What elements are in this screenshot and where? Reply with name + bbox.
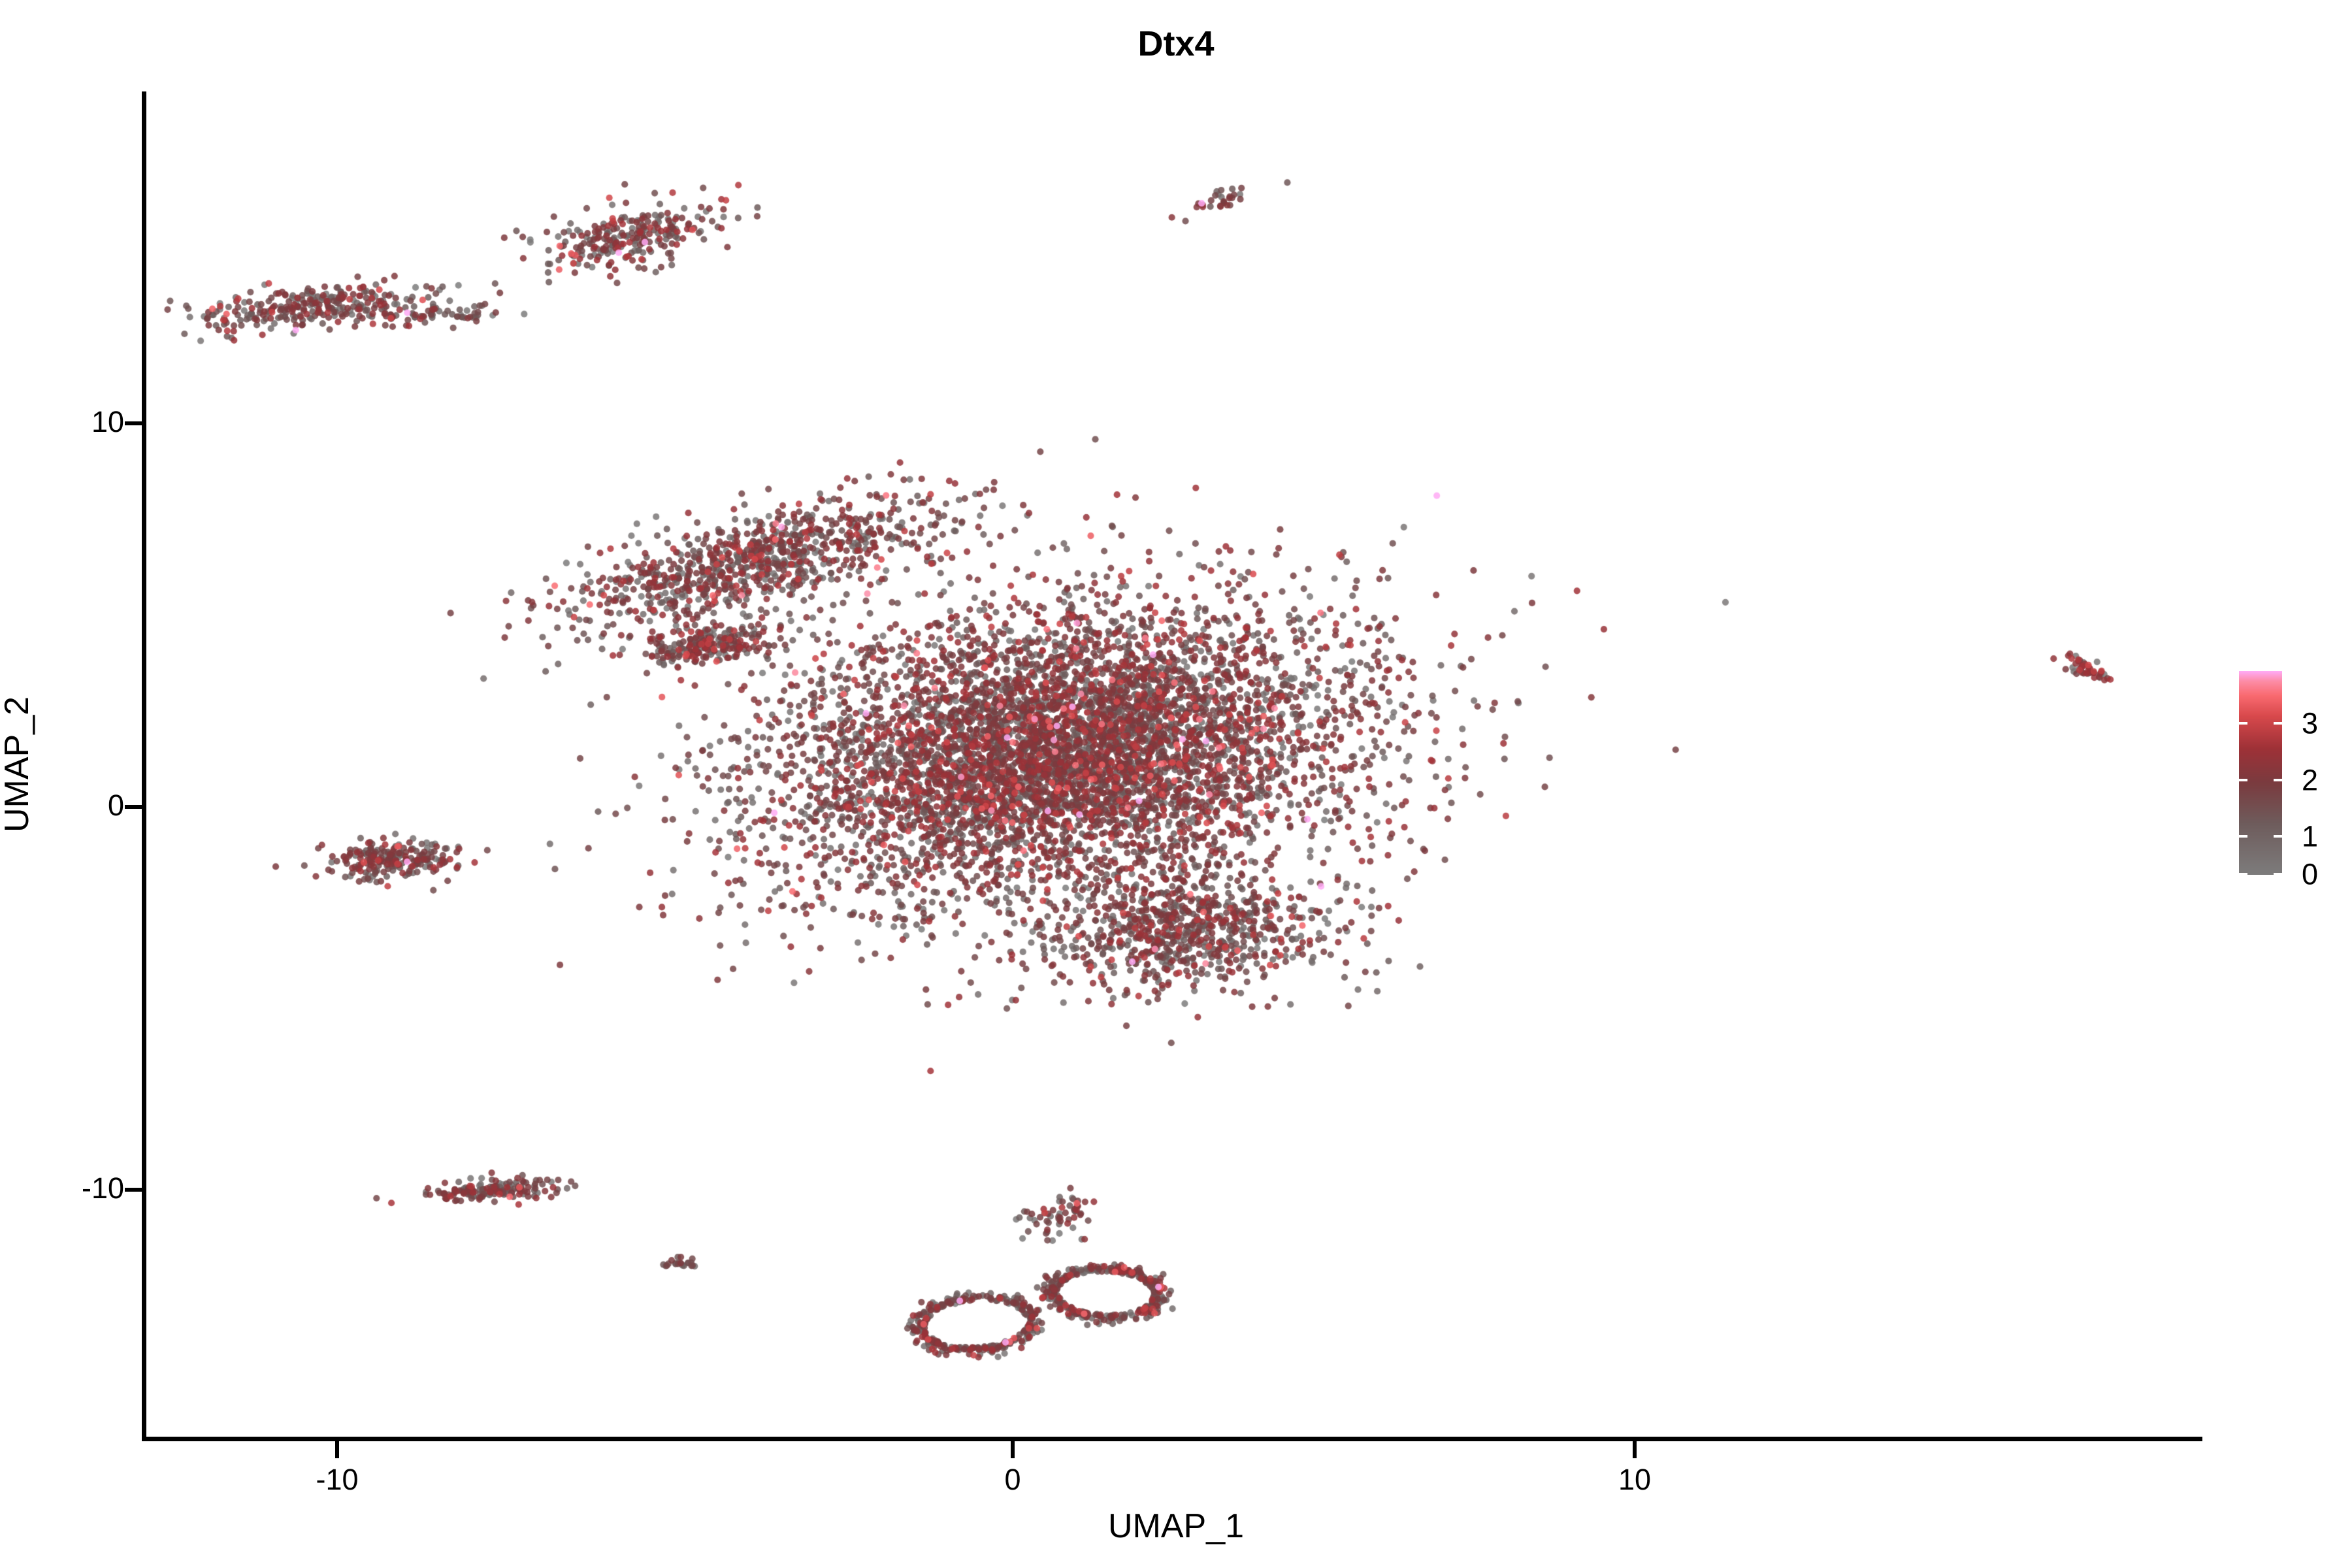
colorbar-tick-1-right [2274,835,2282,838]
y-tick-10 [125,421,142,425]
x-tick-0 [1011,1441,1015,1458]
y-axis-line [142,91,146,1441]
y-ticklabel-10: 10 [91,407,124,436]
colorbar-tick-2-right [2274,779,2282,781]
colorbar-tick-3-left [2239,722,2247,725]
colorbar-label-2: 2 [2302,766,2318,795]
x-ticklabel-minus-10: -10 [316,1465,358,1494]
x-ticklabel-10: 10 [1618,1465,1651,1494]
y-axis-label: UMAP_2 [0,696,34,832]
y-tick-minus-10 [125,1188,142,1192]
colorbar-label-3: 3 [2302,709,2318,738]
colorbar-label-0: 0 [2302,860,2318,889]
plot-panel [144,91,2203,1439]
colorbar-tick-0-left [2239,873,2247,875]
x-ticklabel-0: 0 [1004,1465,1021,1494]
colorbar-tick-0-right [2274,873,2282,875]
y-ticklabel-minus-10: -10 [82,1173,124,1203]
page-title: Dtx4 [0,26,2352,61]
colorbar-tick-2-left [2239,779,2247,781]
colorbar-gradient [2239,671,2282,875]
colorbar-tick-3-right [2274,722,2282,725]
colorbar-legend: 3 2 1 0 [2239,671,2344,875]
y-tick-0 [125,805,142,809]
x-tick-minus-10 [335,1441,339,1458]
x-tick-10 [1633,1441,1637,1458]
plot-root: Dtx4 10 0 -10 -10 0 10 UMAP_1 UMAP_2 3 2… [0,0,2352,1568]
colorbar-label-1: 1 [2302,822,2318,851]
x-axis-line [142,1437,2202,1441]
x-axis-label: UMAP_1 [0,1509,2352,1543]
colorbar-tick-1-left [2239,835,2247,838]
y-ticklabel-0: 0 [108,791,124,820]
scatter-plot-canvas [144,91,2203,1439]
